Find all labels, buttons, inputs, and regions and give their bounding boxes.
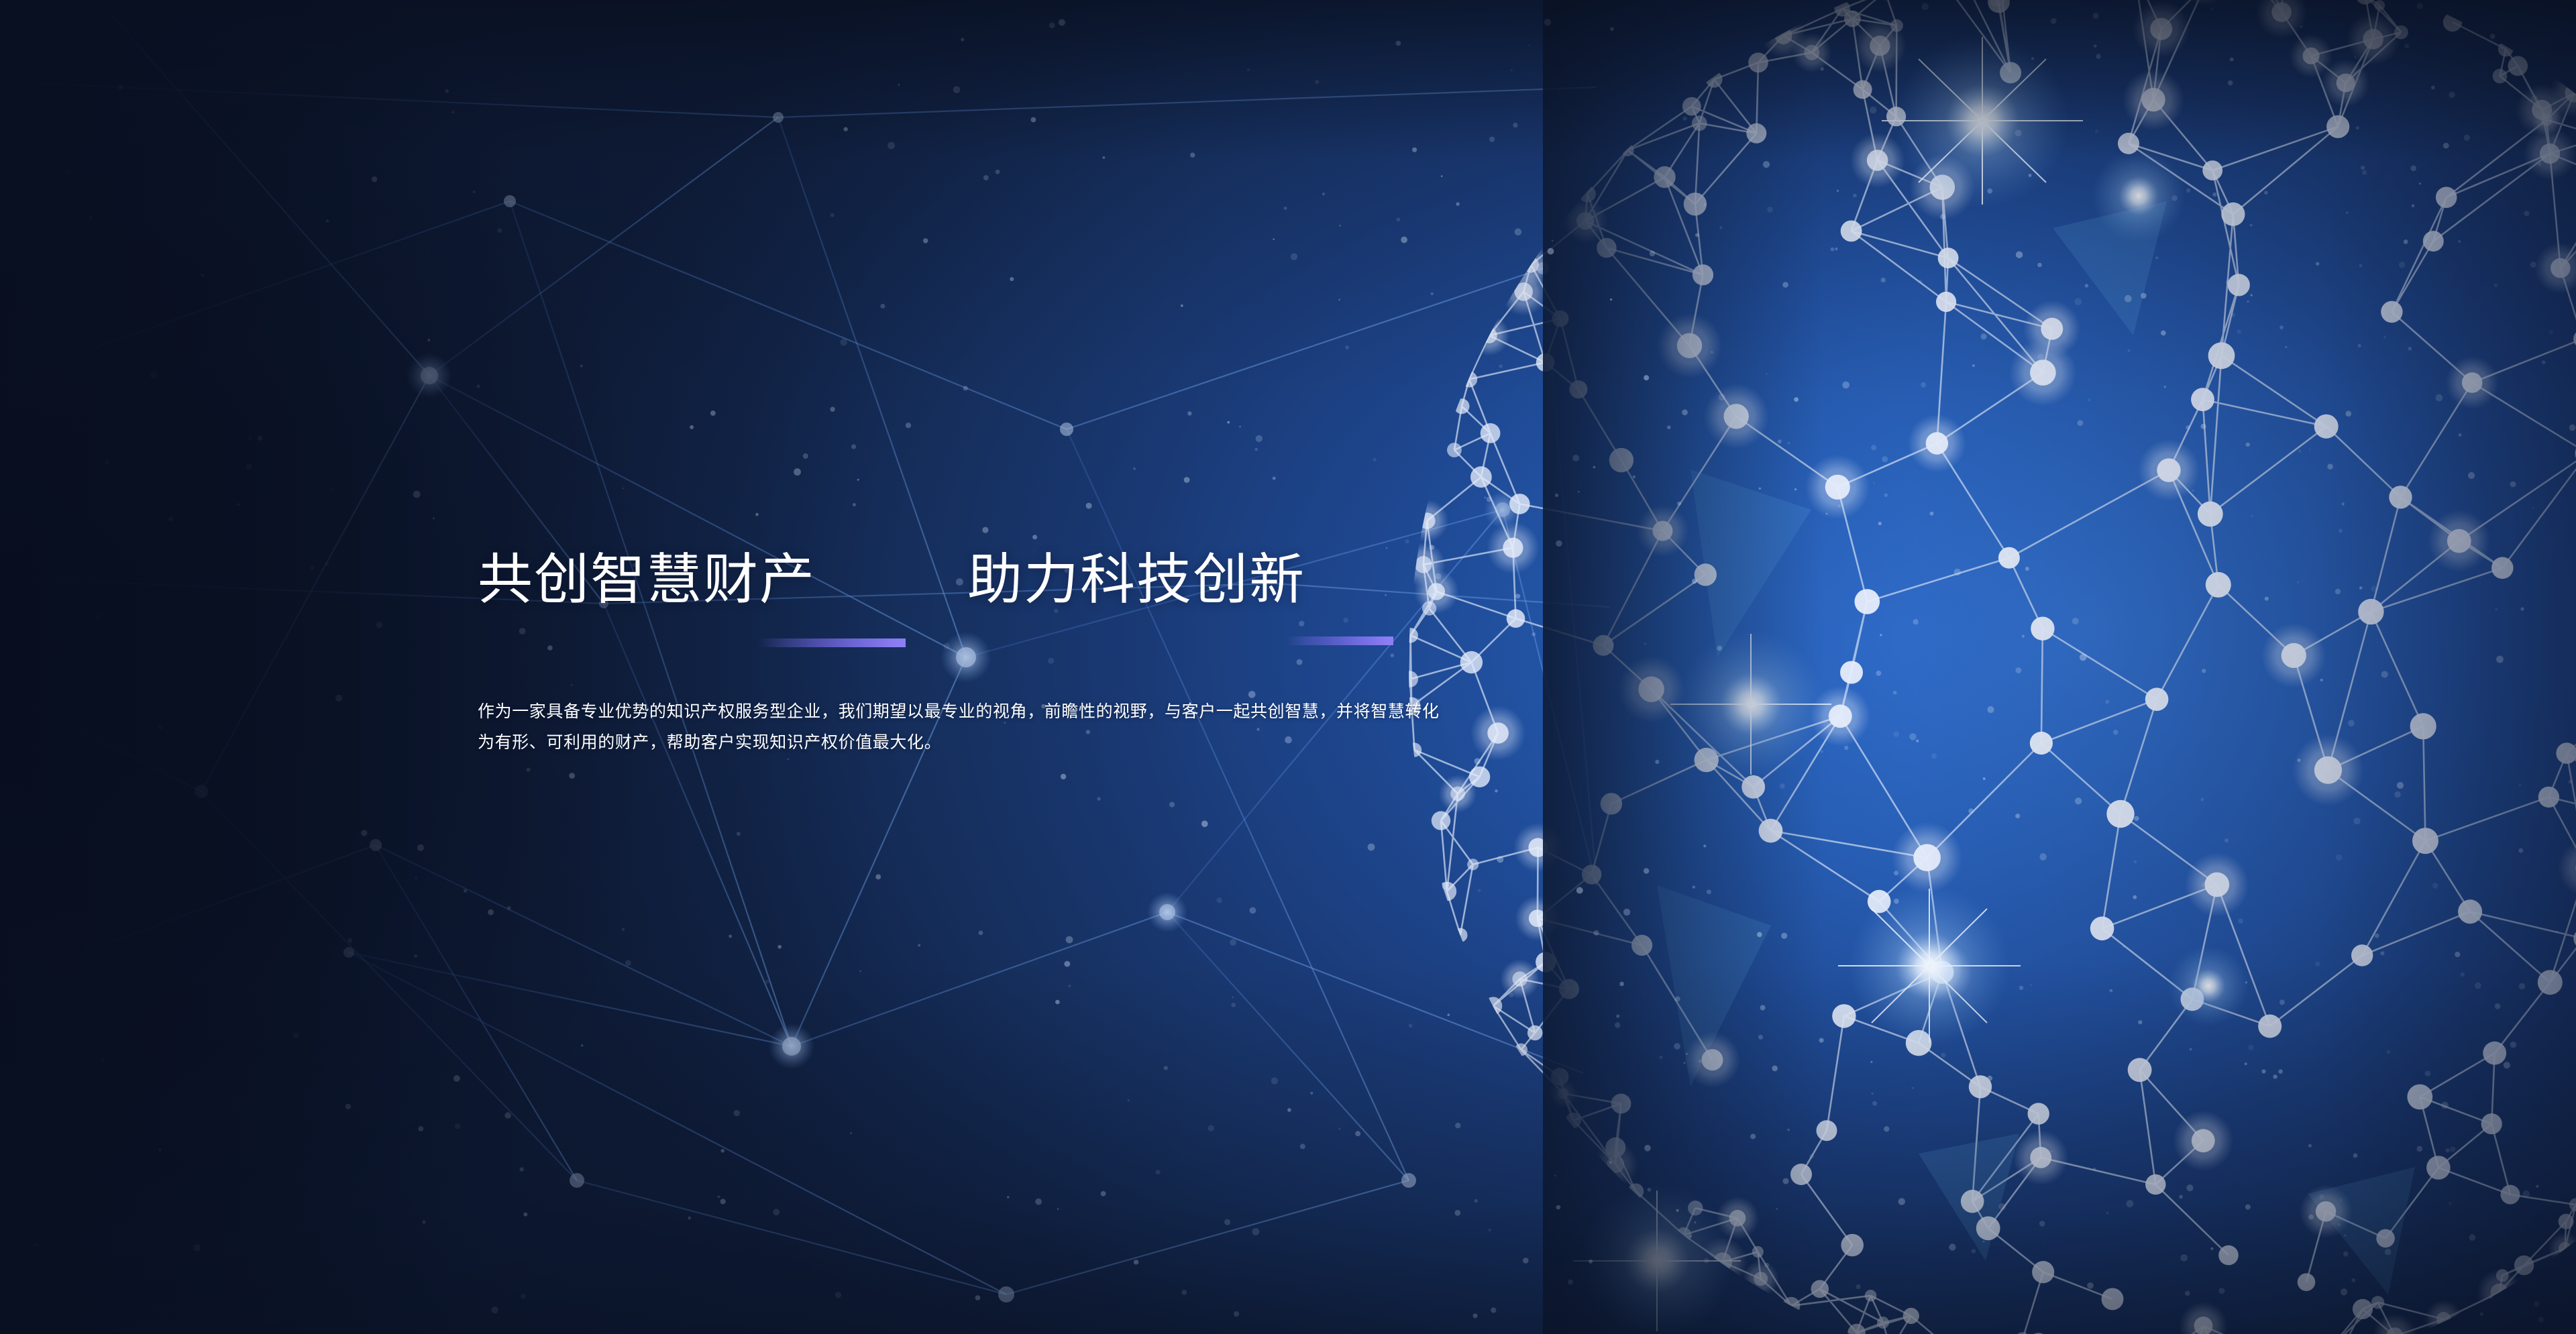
headline-accent-rule-two: [1286, 636, 1393, 645]
headline-part-two: 助力科技创新: [967, 553, 1305, 608]
hero-content: 共创智慧财产 助力科技创新 作为一家具备专业优势的知识产权服务型企业，我们期望以…: [478, 541, 1484, 661]
background-vignette: [0, 0, 2576, 1334]
hero-banner: 共创智慧财产 助力科技创新 作为一家具备专业优势的知识产权服务型企业，我们期望以…: [0, 0, 2576, 1334]
hero-headline: 共创智慧财产 助力科技创新: [478, 541, 1484, 661]
headline-part-one: 共创智慧财产: [478, 553, 816, 608]
headline-accent-rule-one: [758, 638, 906, 647]
hero-description: 作为一家具备专业优势的知识产权服务型企业，我们期望以最专业的视角，前瞻性的视野，…: [478, 696, 1444, 758]
